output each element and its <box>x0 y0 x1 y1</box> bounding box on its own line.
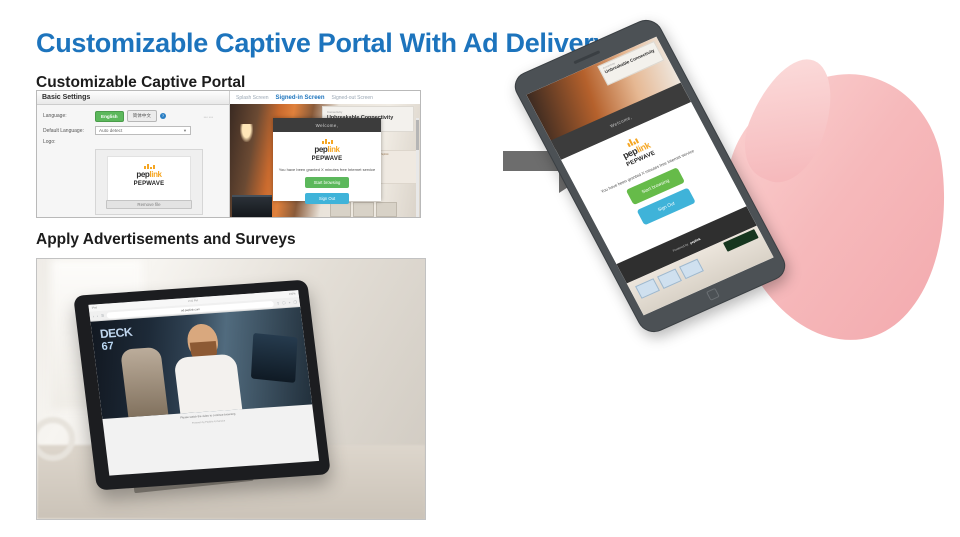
ad-title: DECK <box>99 325 133 341</box>
modal-logo-primary: pep <box>314 145 327 154</box>
peplink-mark-icon <box>144 163 155 169</box>
logo-upload-box[interactable]: peplink PEPWAVE Remove file <box>95 149 203 215</box>
phone-in-hand-illustration: Connectivity Unbreakable Connectivity We… <box>555 18 955 348</box>
ad-title-line2: 67 <box>101 340 115 353</box>
default-language-select[interactable]: Auto detect ▼ <box>95 126 191 135</box>
chevron-down-icon: ▼ <box>183 127 190 135</box>
remove-file-button[interactable]: Remove file <box>106 200 192 209</box>
phone-home-button[interactable] <box>706 288 720 301</box>
advertisement-video[interactable]: DECK 67 <box>90 307 312 419</box>
modal-welcome-header: Welcome, <box>273 118 381 132</box>
person-primary <box>170 322 243 414</box>
sign-out-button[interactable]: Sign Out <box>305 193 349 204</box>
poster-kicker: Connectivity <box>327 110 409 114</box>
modal-logo-product: PEPWAVE <box>312 156 343 162</box>
preview-photo-stage: Connectivity Unbreakable Connectivity Pe… <box>230 104 420 217</box>
page-title: Customizable Captive Portal With Ad Deli… <box>36 28 608 59</box>
status-time: 2:41 PM <box>188 299 198 303</box>
basic-settings-header: Basic Settings <box>37 91 229 105</box>
language-label: Language: <box>43 113 95 119</box>
peplink-mark-icon <box>322 138 333 144</box>
logo-row: Logo: <box>43 139 223 145</box>
tab-splash-screen[interactable]: Splash Screen <box>236 95 269 101</box>
tablet-device: iPad 2:41 PM 100% ‹ › ☰ ad.peplink.com ⇪… <box>73 280 331 491</box>
default-language-label: Default Language: <box>43 128 95 134</box>
default-language-value: Auto detect <box>99 127 122 135</box>
logo-brand-primary: pep <box>136 170 149 179</box>
back-icon[interactable]: ‹ <box>93 314 95 318</box>
footer-brand-label: peplink <box>689 237 701 245</box>
forward-icon[interactable]: › <box>97 314 99 318</box>
section-heading-advertisements: Apply Advertisements and Surveys <box>36 231 296 249</box>
language-option-english[interactable]: English <box>95 111 124 122</box>
start-browsing-button[interactable]: Start browsing <box>305 177 349 188</box>
share-icon[interactable]: ⇪ <box>276 301 279 305</box>
modal-body: peplink PEPWAVE You have been granted X … <box>273 132 381 204</box>
preview-scrollbar-thumb[interactable] <box>416 120 419 150</box>
language-option-chinese[interactable]: 简体中文 <box>127 110 157 122</box>
preview-tab-bar: Splash Screen Signed-in Screen Signed-ou… <box>230 91 420 104</box>
bookmarks-icon[interactable]: ☰ <box>101 313 105 317</box>
modal-logo-brand: peplink <box>314 145 339 154</box>
wall-poster-secondary: Peplink <box>376 150 418 184</box>
language-toggle-group[interactable]: English 简体中文 ? <box>95 110 166 122</box>
modal-message: You have been granted X minutes free Int… <box>277 167 377 172</box>
portal-preview-pane: Splash Screen Signed-in Screen Signed-ou… <box>230 91 420 217</box>
person-secondary <box>120 347 168 417</box>
status-carrier: iPad <box>92 306 98 309</box>
captive-portal-modal: Welcome, peplink PEPWAVE You have been g… <box>273 118 381 201</box>
tablet-screen[interactable]: iPad 2:41 PM 100% ‹ › ☰ ad.peplink.com ⇪… <box>88 290 319 475</box>
status-battery: 100% <box>289 292 296 295</box>
poster-secondary-text: Peplink <box>377 151 417 158</box>
photo-bottom-thumbnails <box>330 202 397 217</box>
person-body <box>173 354 242 414</box>
logo-brand-accent: link <box>149 170 161 179</box>
logo-label: Logo: <box>43 139 95 145</box>
slide-canvas: Customizable Captive Portal With Ad Deli… <box>0 0 960 537</box>
tab-signed-out-screen[interactable]: Signed-out Screen <box>332 95 373 101</box>
logo-product-text: PEPWAVE <box>134 181 165 187</box>
bookmark-icon[interactable]: ☐ <box>282 301 286 305</box>
help-icon[interactable]: ? <box>160 113 166 119</box>
lamp-glow <box>240 124 253 142</box>
tablet-advertisement-photo: iPad 2:41 PM 100% ‹ › ☰ ad.peplink.com ⇪… <box>36 258 426 520</box>
language-row: Language: English 简体中文 ? <box>43 110 223 122</box>
add-tab-icon[interactable]: + <box>288 300 290 304</box>
captive-portal-composite-screenshot: Basic Settings *** *** Language: English… <box>36 90 421 218</box>
screen-prop <box>251 333 298 383</box>
tab-signed-in-screen[interactable]: Signed-in Screen <box>276 95 325 101</box>
default-language-row: Default Language: Auto detect ▼ <box>43 126 223 135</box>
tabs-icon[interactable]: ❐ <box>293 300 297 304</box>
modal-logo-accent: link <box>327 145 339 154</box>
phone-screen[interactable]: Connectivity Unbreakable Connectivity We… <box>526 37 773 316</box>
admin-settings-pane: Basic Settings *** *** Language: English… <box>37 91 230 218</box>
footer-powered-by-label: Powered by <box>672 242 689 252</box>
laptop-in-photo <box>232 195 272 217</box>
logo-corner-tag: *** *** <box>204 116 213 120</box>
logo-brand-text: peplink <box>136 170 161 179</box>
admin-settings-body: *** *** Language: English 简体中文 ? Default… <box>37 105 229 218</box>
